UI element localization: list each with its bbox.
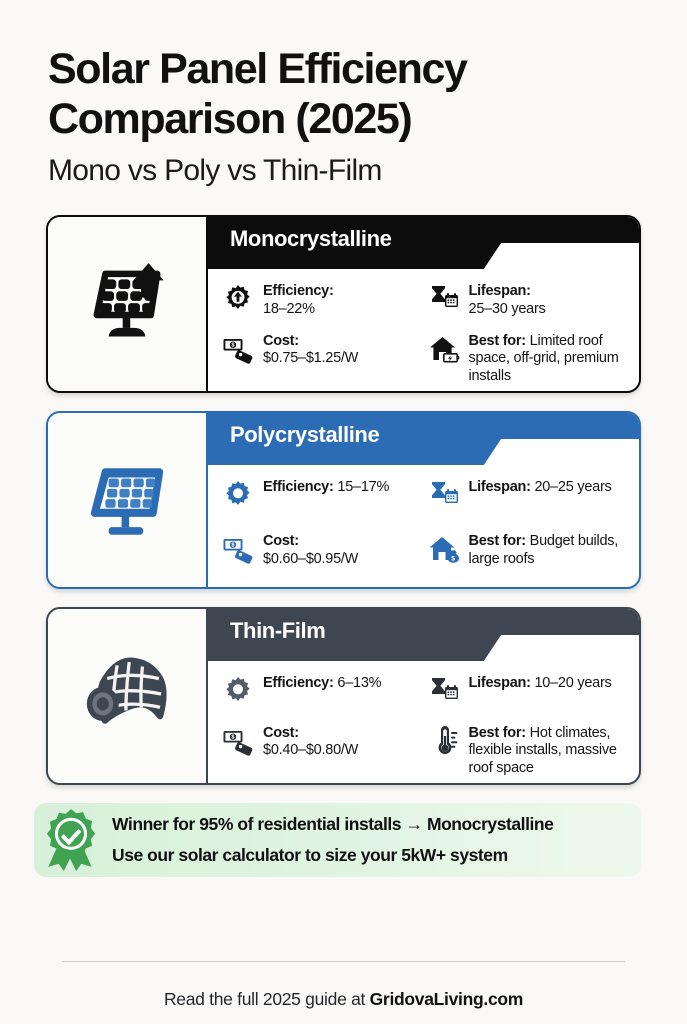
comparison-card-list: Monocrystalline Efficiency: 18– [0, 215, 687, 785]
footer-divider [62, 961, 625, 963]
spec-lifespan: Lifespan: 10–20 years [428, 669, 630, 719]
svg-text:$: $ [451, 555, 455, 562]
money-tag-icon: $ [222, 725, 254, 757]
spec-value: 20–25 years [534, 479, 611, 495]
card-spec-grid: Efficiency: 18–22% [208, 271, 639, 391]
spec-cost: $ Cost: $0.75–$1.25/W [222, 327, 424, 386]
spec-text: Lifespan: 25–30 years [469, 282, 546, 318]
spec-efficiency: Efficiency: 18–22% [222, 277, 424, 327]
spec-text: Lifespan: 10–20 years [469, 674, 612, 693]
banner-line-winner: Winner for 95% of residential installs →… [112, 809, 553, 840]
spec-value: 18–22% [263, 301, 315, 317]
card-polycrystalline[interactable]: Polycrystalline Efficiency: 15–17% [46, 411, 641, 589]
hourglass-calendar-icon [428, 283, 460, 315]
spec-text: Best for: Budget builds, large roofs [469, 532, 630, 568]
spec-label: Lifespan: [469, 283, 531, 299]
flexible-panel-roll-icon [72, 639, 182, 754]
card-thumbnail [48, 217, 208, 391]
footer: Read the full 2025 guide at GridovaLivin… [0, 989, 687, 1010]
card-title: Polycrystalline [230, 422, 379, 448]
page-subtitle: Mono vs Poly vs Thin-Film [48, 153, 641, 189]
spec-value: 10–20 years [534, 675, 611, 691]
svg-text:$: $ [232, 734, 235, 740]
svg-text:$: $ [232, 342, 235, 348]
money-tag-icon: $ [222, 333, 254, 365]
thermometer-icon [428, 725, 460, 757]
spec-text: Cost: $0.75–$1.25/W [263, 332, 358, 368]
spec-text: Best for: Hot climates, flexible install… [469, 724, 630, 778]
spec-value: 6–13% [337, 675, 381, 691]
award-check-icon [38, 807, 104, 873]
hourglass-calendar-icon [428, 479, 460, 511]
card-thumbnail [48, 609, 208, 783]
spec-label: Best for: [469, 725, 526, 741]
card-monocrystalline[interactable]: Monocrystalline Efficiency: 18– [46, 215, 641, 393]
spec-label: Efficiency: [263, 283, 334, 299]
card-thin-film[interactable]: Thin-Film Efficiency: 6–13% [46, 607, 641, 785]
gear-up-arrow-icon [222, 283, 254, 315]
spec-label: Lifespan: [469, 479, 531, 495]
card-body: Monocrystalline Efficiency: 18– [208, 217, 639, 391]
spec-label: Best for: [469, 533, 526, 549]
spec-label: Cost: [263, 533, 299, 549]
spec-label: Best for: [469, 333, 526, 349]
spec-label: Lifespan: [469, 675, 531, 691]
spec-text: Efficiency: 15–17% [263, 478, 389, 497]
infographic-page: Solar Panel Efficiency Comparison (2025)… [0, 0, 687, 1024]
spec-value: $0.75–$1.25/W [263, 350, 358, 366]
card-spec-grid: Efficiency: 15–17% [208, 467, 639, 587]
page-title: Solar Panel Efficiency Comparison (2025) [48, 44, 641, 144]
gear-icon [222, 479, 254, 511]
money-tag-icon: $ [222, 533, 254, 565]
spec-text: Best for: Limited roof space, off-grid, … [469, 332, 630, 386]
gear-icon [222, 675, 254, 707]
winner-banner: Winner for 95% of residential installs →… [34, 803, 641, 877]
spec-label: Cost: [263, 725, 299, 741]
solar-panel-arrow-icon [73, 248, 181, 361]
house-battery-icon [428, 333, 460, 365]
spec-text: Efficiency: 6–13% [263, 674, 381, 693]
spec-efficiency: Efficiency: 6–13% [222, 669, 424, 719]
hourglass-calendar-icon [428, 675, 460, 707]
banner-line-cta: Use our solar calculator to size your 5k… [112, 840, 553, 871]
footer-prefix: Read the full 2025 guide at [164, 989, 370, 1009]
spec-text: Cost: $0.60–$0.95/W [263, 532, 358, 568]
spec-label: Efficiency: [263, 479, 334, 495]
title-line-2: Comparison (2025) [48, 94, 641, 144]
spec-value: $0.40–$0.80/W [263, 742, 358, 758]
spec-cost: $ Cost: $0.40–$0.80/W [222, 719, 424, 778]
spec-value: $0.60–$0.95/W [263, 551, 358, 567]
card-spec-grid: Efficiency: 6–13% [208, 663, 639, 783]
house-money-bag-icon: $ [428, 533, 460, 565]
page-header: Solar Panel Efficiency Comparison (2025)… [0, 0, 687, 189]
spec-cost: $ Cost: $0.60–$0.95/W [222, 527, 424, 581]
card-thumbnail [48, 413, 208, 587]
spec-text: Lifespan: 20–25 years [469, 478, 612, 497]
spec-best-for: $ Best for: Budget builds, large roofs [428, 527, 630, 581]
spec-efficiency: Efficiency: 15–17% [222, 473, 424, 527]
card-body: Polycrystalline Efficiency: 15–17% [208, 413, 639, 587]
spec-label: Cost: [263, 333, 299, 349]
spec-text: Cost: $0.40–$0.80/W [263, 724, 358, 760]
title-line-1: Solar Panel Efficiency [48, 44, 641, 94]
spec-value: 15–17% [337, 479, 389, 495]
spec-value: 25–30 years [469, 301, 546, 317]
spec-lifespan: Lifespan: 25–30 years [428, 277, 630, 327]
spec-text: Efficiency: 18–22% [263, 282, 334, 318]
card-title: Monocrystalline [230, 226, 391, 252]
spec-best-for: Best for: Hot climates, flexible install… [428, 719, 630, 778]
footer-site[interactable]: GridovaLiving.com [370, 989, 523, 1009]
spec-lifespan: Lifespan: 20–25 years [428, 473, 630, 527]
spec-label: Efficiency: [263, 675, 334, 691]
card-title: Thin-Film [230, 618, 325, 644]
card-body: Thin-Film Efficiency: 6–13% [208, 609, 639, 783]
banner-text-block: Winner for 95% of residential installs →… [112, 809, 553, 871]
solar-panel-blue-icon [73, 444, 181, 557]
spec-best-for: Best for: Limited roof space, off-grid, … [428, 327, 630, 386]
svg-text:$: $ [232, 543, 235, 549]
